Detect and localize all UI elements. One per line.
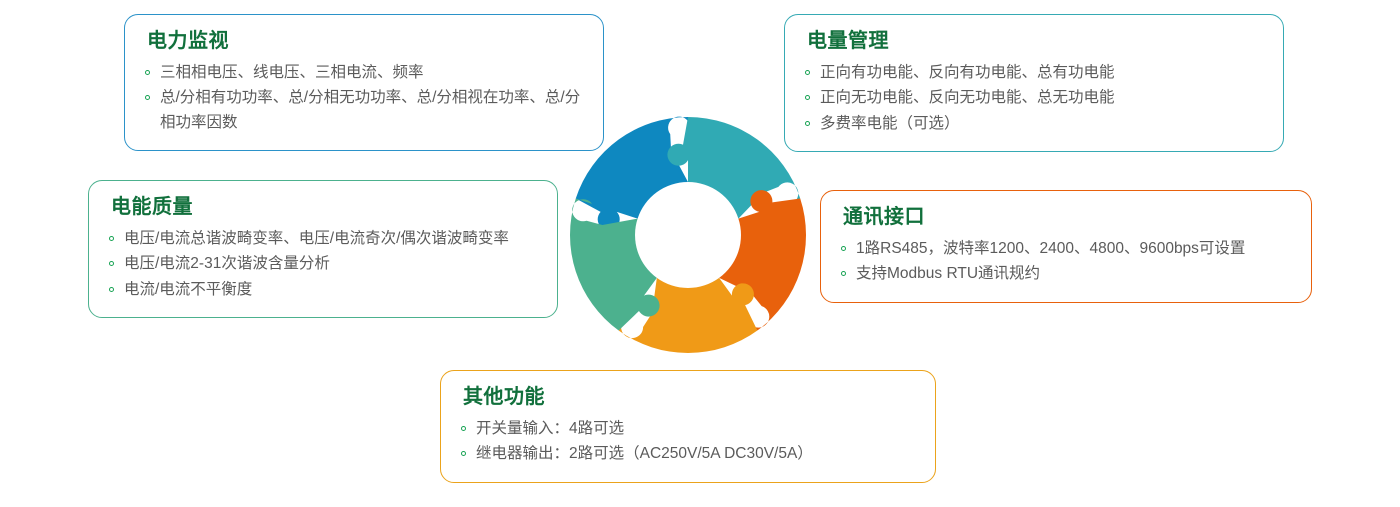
- bullet-circle-icon: [109, 261, 114, 266]
- bullet-circle-icon: [145, 95, 150, 100]
- card-title-other-functions: 其他功能: [463, 385, 915, 410]
- list-item-text: 继电器输出：2路可选（AC250V/5A DC30V/5A）: [476, 445, 813, 462]
- list-item-text: 三相相电压、线电压、三相电流、频率: [160, 64, 424, 81]
- card-title-power-monitor: 电力监视: [147, 29, 583, 54]
- list-item: 电压/电流2-31次谐波含量分析: [109, 252, 537, 276]
- list-item: 电流/电流不平衡度: [109, 278, 537, 302]
- bullet-circle-icon: [145, 70, 150, 75]
- bullet-circle-icon: [841, 271, 846, 276]
- bullet-list-power-quality: 电压/电流总谐波畸变率、电压/电流奇次/偶次谐波畸变率 电压/电流2-31次谐波…: [109, 227, 537, 302]
- list-item-text: 正向有功电能、反向有功电能、总有功电能: [820, 64, 1115, 81]
- bullet-circle-icon: [109, 236, 114, 241]
- list-item-text: 支持Modbus RTU通讯规约: [856, 265, 1040, 282]
- card-energy-management: 电量管理 正向有功电能、反向有功电能、总有功电能 正向无功电能、反向无功电能、总…: [784, 14, 1284, 152]
- card-communication-interface: 通讯接口 1路RS485，波特率1200、2400、4800、9600bps可设…: [820, 190, 1312, 303]
- bullet-circle-icon: [461, 426, 466, 431]
- list-item: 三相相电压、线电压、三相电流、频率: [145, 61, 583, 85]
- list-item: 开关量输入：4路可选: [461, 417, 915, 441]
- bullet-list-communication: 1路RS485，波特率1200、2400、4800、9600bps可设置 支持M…: [841, 237, 1291, 287]
- card-title-power-quality: 电能质量: [111, 195, 537, 220]
- list-item: 正向有功电能、反向有功电能、总有功电能: [805, 61, 1263, 85]
- infographic-canvas: 电力监视 三相相电压、线电压、三相电流、频率 总/分相有功功率、总/分相无功功率…: [0, 0, 1400, 507]
- list-item-text: 电压/电流2-31次谐波含量分析: [124, 255, 330, 272]
- card-power-quality: 电能质量 电压/电流总谐波畸变率、电压/电流奇次/偶次谐波畸变率 电压/电流2-…: [88, 180, 558, 318]
- list-item-text: 开关量输入：4路可选: [476, 420, 624, 437]
- bullet-circle-icon: [805, 70, 810, 75]
- list-item: 支持Modbus RTU通讯规约: [841, 262, 1291, 286]
- list-item-text: 多费率电能（可选）: [820, 115, 960, 132]
- list-item: 总/分相有功功率、总/分相无功功率、总/分相视在功率、总/分相功率因数: [145, 86, 583, 135]
- list-item-text: 电流/电流不平衡度: [124, 281, 252, 298]
- list-item-text: 正向无功电能、反向无功电能、总无功电能: [820, 89, 1115, 106]
- bullet-list-other-functions: 开关量输入：4路可选 继电器输出：2路可选（AC250V/5A DC30V/5A…: [461, 417, 915, 467]
- puzzle-ring-graphic: [560, 107, 816, 363]
- list-item: 1路RS485，波特率1200、2400、4800、9600bps可设置: [841, 237, 1291, 261]
- list-item-text: 电压/电流总谐波畸变率、电压/电流奇次/偶次谐波畸变率: [124, 230, 509, 247]
- list-item: 多费率电能（可选）: [805, 112, 1263, 136]
- card-power-monitor: 电力监视 三相相电压、线电压、三相电流、频率 总/分相有功功率、总/分相无功功率…: [124, 14, 604, 151]
- bullet-list-power-monitor: 三相相电压、线电压、三相电流、频率 总/分相有功功率、总/分相无功功率、总/分相…: [145, 61, 583, 135]
- card-title-energy-management: 电量管理: [807, 29, 1263, 54]
- list-item: 电压/电流总谐波畸变率、电压/电流奇次/偶次谐波畸变率: [109, 227, 537, 251]
- bullet-circle-icon: [109, 287, 114, 292]
- card-other-functions: 其他功能 开关量输入：4路可选 继电器输出：2路可选（AC250V/5A DC3…: [440, 370, 936, 483]
- card-title-communication: 通讯接口: [843, 205, 1291, 230]
- bullet-circle-icon: [805, 95, 810, 100]
- bullet-list-energy-management: 正向有功电能、反向有功电能、总有功电能 正向无功电能、反向无功电能、总无功电能 …: [805, 61, 1263, 136]
- list-item: 继电器输出：2路可选（AC250V/5A DC30V/5A）: [461, 442, 915, 466]
- list-item: 正向无功电能、反向无功电能、总无功电能: [805, 86, 1263, 110]
- bullet-circle-icon: [461, 451, 466, 456]
- list-item-text: 总/分相有功功率、总/分相无功功率、总/分相视在功率、总/分相功率因数: [160, 89, 580, 130]
- list-item-text: 1路RS485，波特率1200、2400、4800、9600bps可设置: [856, 240, 1245, 257]
- bullet-circle-icon: [841, 246, 846, 251]
